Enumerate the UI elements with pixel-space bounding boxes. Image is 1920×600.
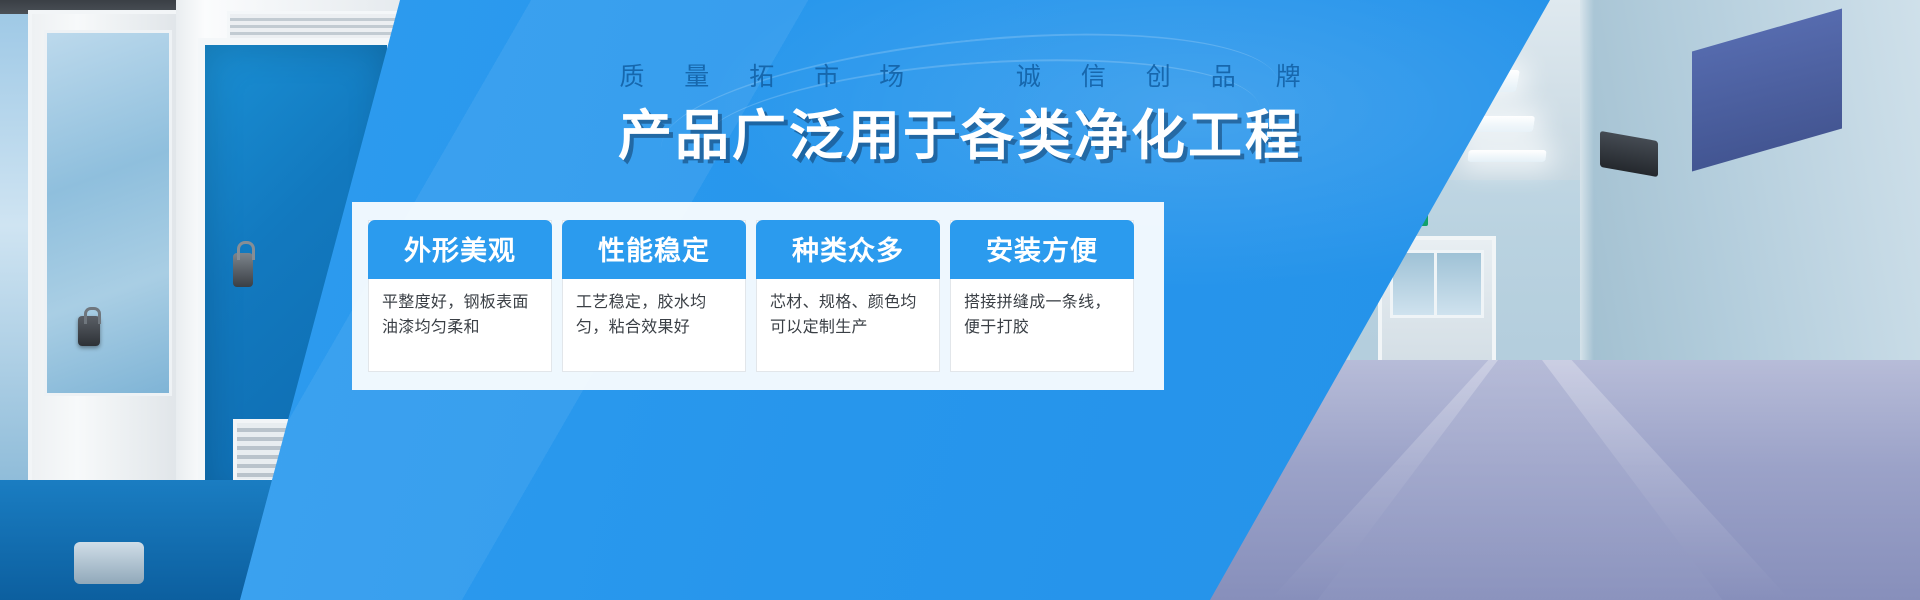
feature-card-title: 安装方便	[950, 220, 1134, 279]
feature-card[interactable]: 种类众多 芯材、规格、颜色均可以定制生产	[756, 220, 940, 372]
feature-card[interactable]: 性能稳定 工艺稳定，胶水均匀，粘合效果好	[562, 220, 746, 372]
feature-card-body: 芯材、规格、颜色均可以定制生产	[757, 279, 939, 352]
ceiling-lamp	[1467, 150, 1546, 162]
feature-card-body: 工艺稳定，胶水均匀，粘合效果好	[563, 279, 745, 352]
floor-object	[74, 542, 144, 584]
floor-center-strip	[1300, 360, 1740, 600]
door-handle-icon	[233, 253, 253, 287]
promo-banner: 质 量 拓 市 场 诚 信 创 品 牌 产品广泛用于各类净化工程 外形美观 平整…	[0, 0, 1920, 600]
feature-card[interactable]: 安装方便 搭接拼缝成一条线，便于打胶	[950, 220, 1134, 372]
feature-card-body: 平整度好，钢板表面油漆均匀柔和	[369, 279, 551, 352]
wall-blue-strip	[1692, 8, 1842, 171]
feature-card-title: 种类众多	[756, 220, 940, 279]
cabin-unit-one	[28, 10, 188, 490]
feature-card-body: 搭接拼缝成一条线，便于打胶	[951, 279, 1133, 352]
wall-device-box	[1600, 131, 1658, 177]
feature-card-title: 外形美观	[368, 220, 552, 279]
cabin-glass	[44, 30, 172, 396]
feature-cards-panel: 外形美观 平整度好，钢板表面油漆均匀柔和 性能稳定 工艺稳定，胶水均匀，粘合效果…	[352, 202, 1164, 390]
sheen-wave	[696, 43, 1264, 212]
feature-card-title: 性能稳定	[562, 220, 746, 279]
feature-card[interactable]: 外形美观 平整度好，钢板表面油漆均匀柔和	[368, 220, 552, 372]
cabin-lock-icon	[78, 316, 100, 346]
